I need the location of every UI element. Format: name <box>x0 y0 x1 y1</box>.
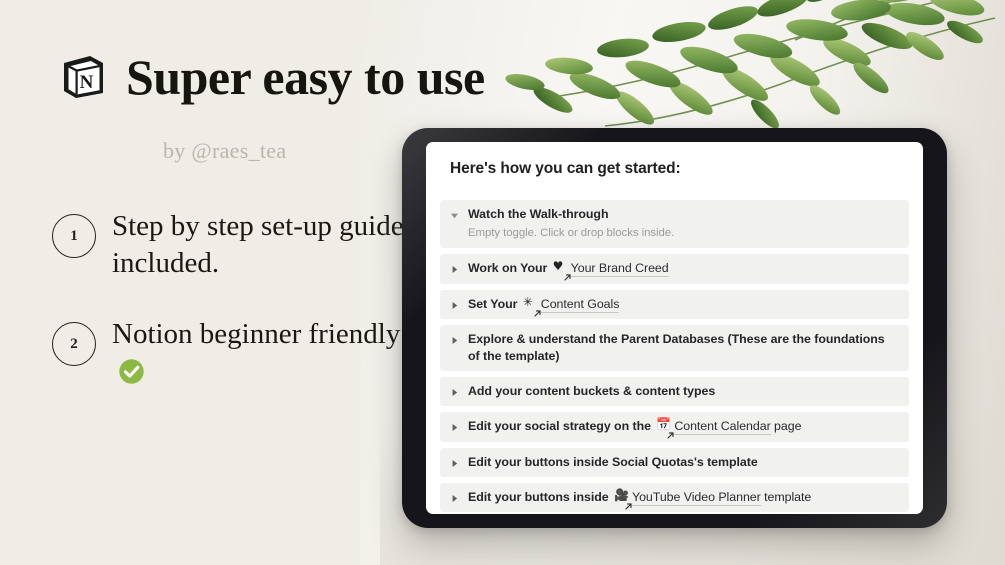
link-arrow-icon <box>534 305 541 312</box>
notion-page: Here's how you can get started: Watch th <box>426 142 923 514</box>
toggle-title: Set Your ✳Content Goals <box>468 296 619 312</box>
page-link[interactable]: Content Goals <box>541 297 620 313</box>
page-heading: Here's how you can get started: <box>450 160 909 178</box>
toggle-header[interactable]: Edit your buttons inside Social Quotas's… <box>450 454 899 470</box>
toggle-header[interactable]: Set Your ✳Content Goals <box>450 296 899 312</box>
point-number-badge: 1 <box>52 214 96 258</box>
sparkle-glyph: ✳ <box>523 296 533 309</box>
point-text: Step by step set-up guide included. <box>112 208 422 282</box>
toggle-block[interactable]: Explore & understand the Parent Database… <box>440 325 909 371</box>
toggle-title: Edit your buttons inside Social Quotas's… <box>468 454 758 470</box>
toggle-title-tail: template <box>761 490 812 504</box>
toggle-header[interactable]: Work on Your ♥Your Brand Creed <box>450 260 899 276</box>
link-arrow-icon <box>625 498 632 505</box>
point-number-badge: 2 <box>52 322 96 366</box>
toggle-title: Edit your buttons inside 🎥YouTube Video … <box>468 489 811 505</box>
link-arrow-icon <box>564 269 571 276</box>
toggle-title-text: Work on Your <box>468 261 551 275</box>
chevron-right-icon[interactable] <box>450 423 459 432</box>
list-item: 2 Notion beginner friendly <box>52 316 452 390</box>
page-link[interactable]: Your Brand Creed <box>571 261 669 277</box>
chevron-right-icon[interactable] <box>450 459 459 468</box>
heart-glyph: ♥ <box>553 260 564 273</box>
chevron-down-icon[interactable] <box>450 211 459 220</box>
notion-logo-letter: N <box>80 72 94 93</box>
toggle-title: Explore & understand the Parent Database… <box>468 331 899 364</box>
heart-icon: ♥ <box>553 261 568 274</box>
toggle-title-tail: page <box>771 419 802 433</box>
sparkle-icon: ✳ <box>523 297 538 310</box>
toggle-block[interactable]: Add your content buckets & content types <box>440 377 909 406</box>
toggle-block[interactable]: Work on Your ♥Your Brand Creed <box>440 254 909 283</box>
movie-camera-icon: 🎥 <box>614 490 629 503</box>
toggle-title: Work on Your ♥Your Brand Creed <box>468 260 669 276</box>
page-link[interactable]: YouTube Video Planner <box>632 490 761 506</box>
white-check-mark-icon <box>118 358 145 385</box>
toggle-header[interactable]: Add your content buckets & content types <box>450 383 899 399</box>
toggle-block[interactable]: Edit your buttons inside 🎥YouTube Video … <box>440 483 909 512</box>
page-link[interactable]: Content Calendar <box>674 419 770 435</box>
toggle-header[interactable]: Edit your buttons inside 🎥YouTube Video … <box>450 489 899 505</box>
toggle-header[interactable]: Edit your social strategy on the 📅Conten… <box>450 418 899 434</box>
toggle-block-list: Watch the Walk-through Empty toggle. Cli… <box>440 200 909 512</box>
title-row: N Super easy to use <box>60 52 485 102</box>
tablet-device: Here's how you can get started: Watch th <box>402 128 947 528</box>
chevron-right-icon[interactable] <box>450 494 459 503</box>
toggle-title-text: Set Your <box>468 297 521 311</box>
feature-points-list: 1 Step by step set-up guide included. 2 … <box>52 208 452 424</box>
toggle-title: Watch the Walk-through <box>468 206 608 222</box>
byline-credit: by @raes_tea <box>163 138 286 164</box>
point-text: Notion beginner friendly <box>112 316 422 390</box>
toggle-title: Add your content buckets & content types <box>468 383 715 399</box>
notion-logo: N <box>60 53 106 101</box>
toggle-block[interactable]: Set Your ✳Content Goals <box>440 290 909 319</box>
list-item: 1 Step by step set-up guide included. <box>52 208 452 282</box>
toggle-title-text: Watch the Walk-through <box>468 207 608 221</box>
toggle-title: Edit your social strategy on the 📅Conten… <box>468 418 801 434</box>
page-title: Super easy to use <box>126 52 485 102</box>
tablet-screen: Here's how you can get started: Watch th <box>426 142 923 514</box>
chevron-right-icon[interactable] <box>450 265 459 274</box>
left-content-column: N Super easy to use by @raes_tea 1 Step … <box>0 0 470 565</box>
toggle-block[interactable]: Edit your buttons inside Social Quotas's… <box>440 448 909 477</box>
link-arrow-icon <box>667 427 674 434</box>
toggle-title-text: Edit your social strategy on the <box>468 419 654 433</box>
chevron-right-icon[interactable] <box>450 388 459 397</box>
toggle-title-text: Edit your buttons inside <box>468 490 612 504</box>
toggle-empty-placeholder: Empty toggle. Click or drop blocks insid… <box>468 227 899 239</box>
chevron-right-icon[interactable] <box>450 301 459 310</box>
calendar-icon: 📅 <box>656 419 671 432</box>
toggle-block[interactable]: Watch the Walk-through Empty toggle. Cli… <box>440 200 909 248</box>
toggle-header[interactable]: Watch the Walk-through <box>450 206 899 222</box>
chevron-right-icon[interactable] <box>450 336 459 345</box>
slide-canvas: N Super easy to use by @raes_tea 1 Step … <box>0 0 1005 565</box>
toggle-block[interactable]: Edit your social strategy on the 📅Conten… <box>440 412 909 441</box>
toggle-header[interactable]: Explore & understand the Parent Database… <box>450 331 899 364</box>
point-text-label: Notion beginner friendly <box>112 318 400 350</box>
